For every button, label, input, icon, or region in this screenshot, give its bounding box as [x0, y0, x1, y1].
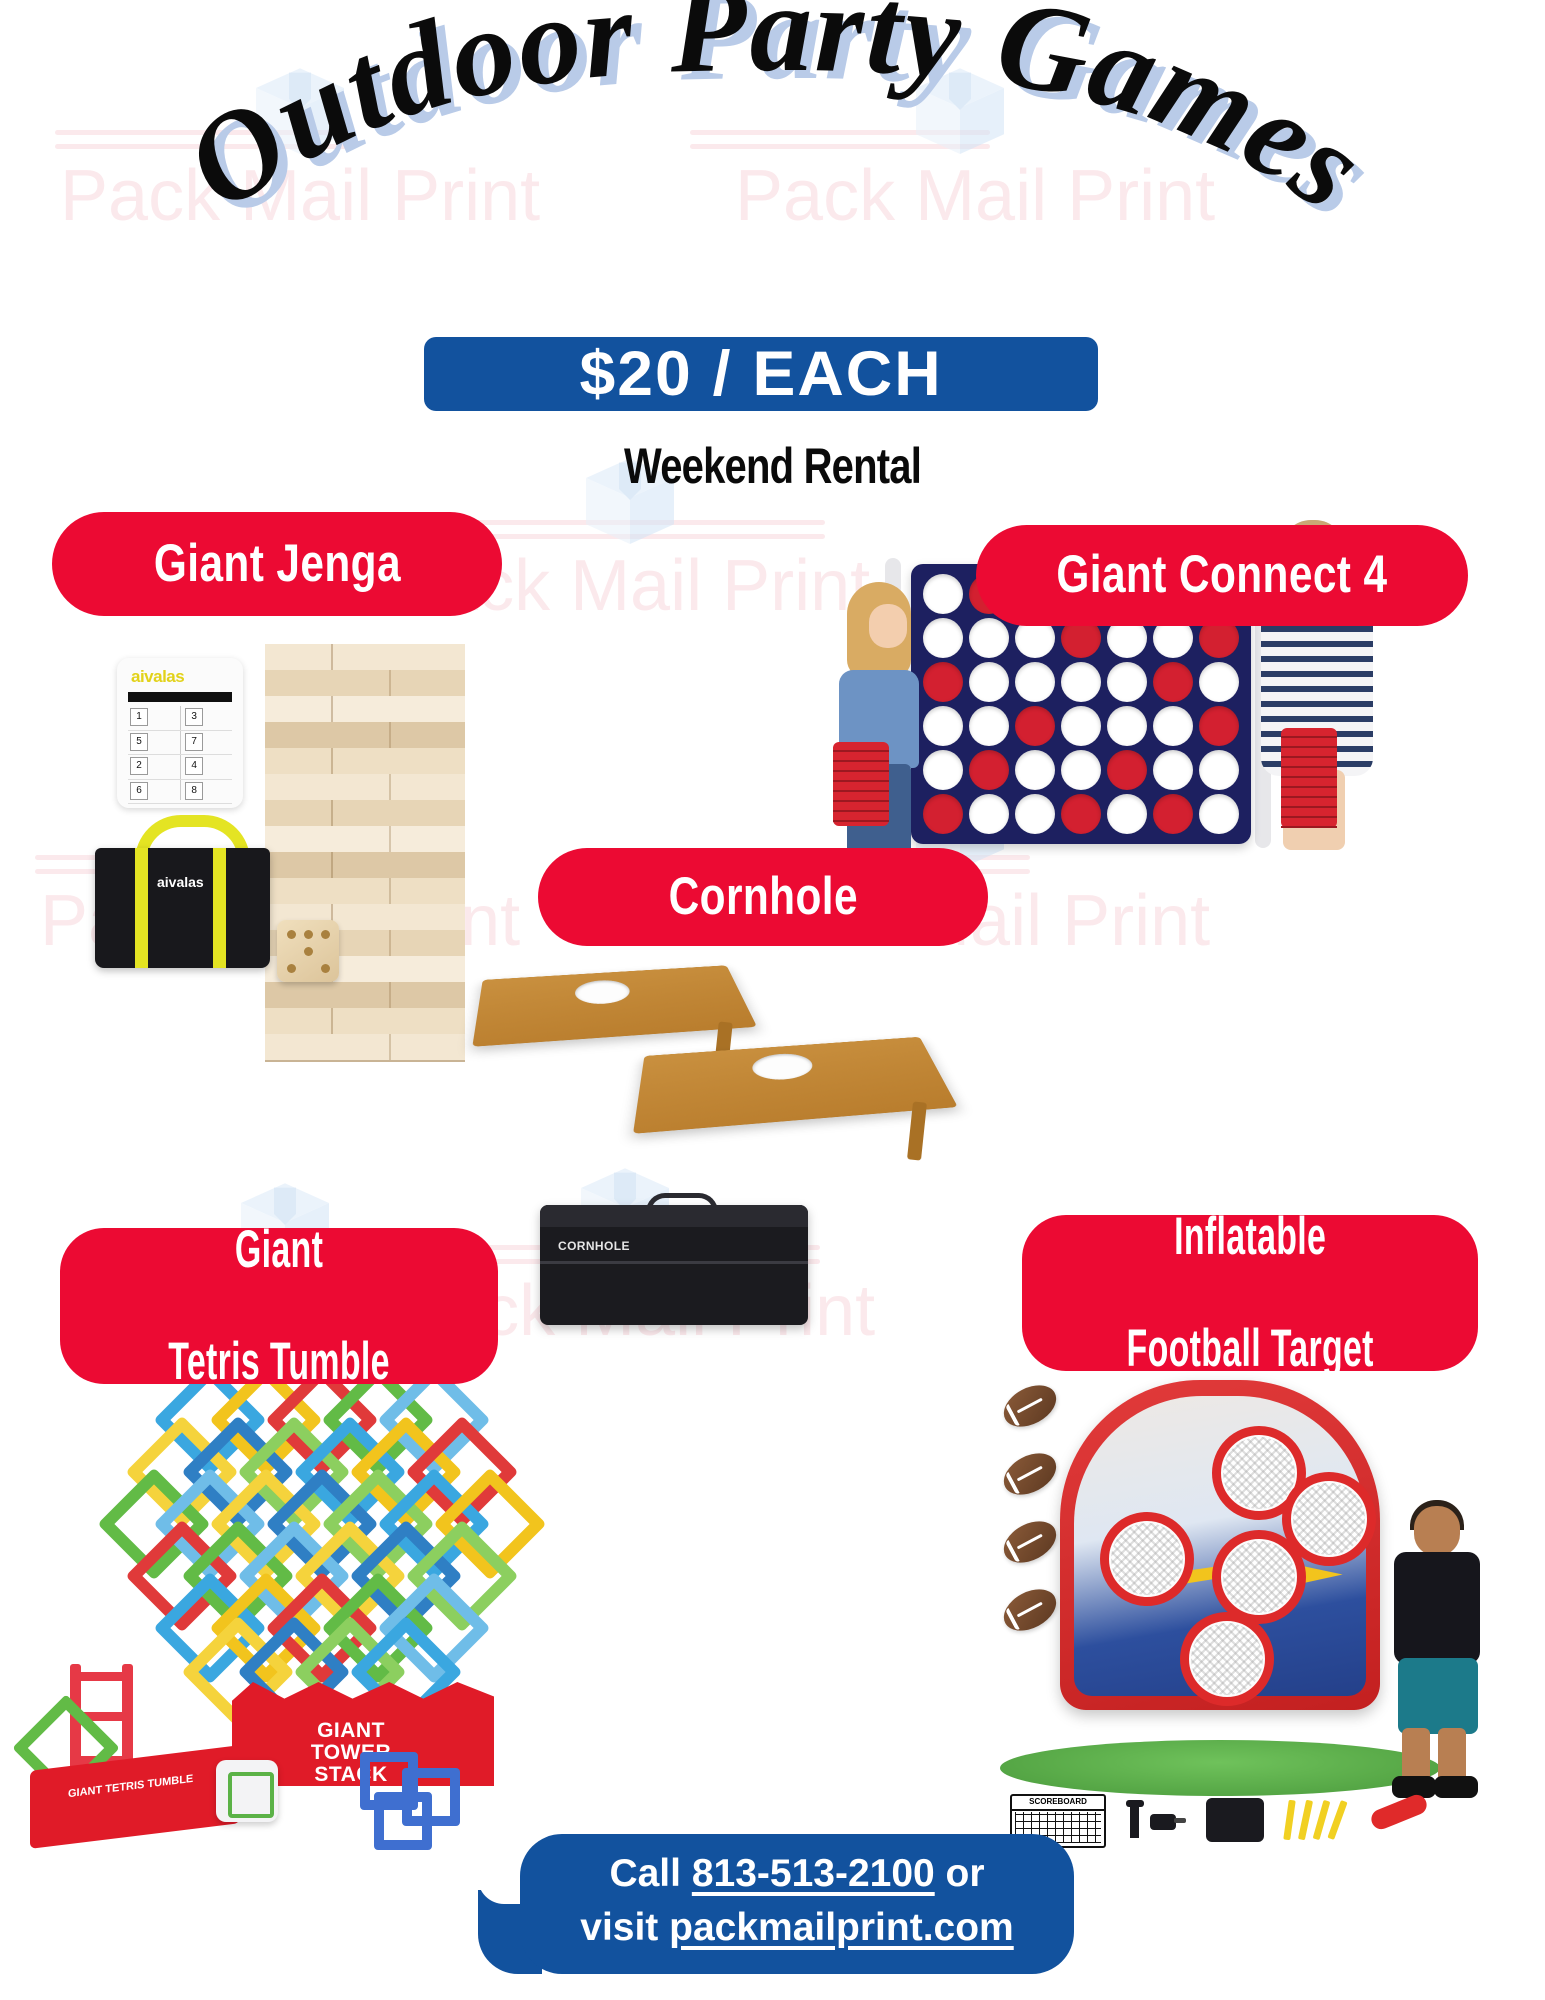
connect4-coin-stack-right [1281, 728, 1337, 828]
connect4-slot [969, 706, 1009, 746]
product-label-giant-jenga: Giant Jenga [52, 512, 502, 616]
die-pip [304, 947, 313, 956]
connect4-slot [1153, 662, 1193, 702]
scorecard-cell: 8 [185, 782, 203, 800]
target-ring [1100, 1512, 1194, 1606]
ladder-rung [70, 1672, 132, 1681]
jenga-block [265, 748, 465, 776]
player-shorts [1398, 1658, 1478, 1734]
bag-handle [646, 1193, 718, 1212]
tetris-blue-pieces [360, 1752, 456, 1834]
connect4-slot [923, 750, 963, 790]
connect4-coin-stack-left [833, 742, 889, 826]
scorecard-row: 57 [128, 731, 232, 756]
jenga-block [265, 644, 465, 672]
bag-zipper [540, 1261, 808, 1264]
jenga-block [265, 982, 465, 1010]
scorecard-row: 68 [128, 780, 232, 805]
football [997, 1581, 1063, 1639]
product-label-inflatable-football-target: Inflatable Football Target [1022, 1215, 1478, 1371]
connect4-slot [1107, 662, 1147, 702]
bag-strap-left [135, 848, 148, 968]
price-text: $20 / EACH [579, 343, 942, 406]
visit-prefix-label: visit [580, 1906, 669, 1949]
connect4-slot [1015, 706, 1055, 746]
die-pip [287, 930, 296, 939]
scorecard-row: 13 [128, 706, 232, 731]
connect4-slot [969, 750, 1009, 790]
connect4-slot [969, 794, 1009, 834]
jenga-block [265, 670, 465, 698]
connect4-slot [1199, 794, 1239, 834]
player-leg [1402, 1728, 1430, 1782]
inflatable-target-body [1060, 1380, 1380, 1710]
cornhole-board-left [472, 965, 757, 1046]
connect4-slot [1061, 706, 1101, 746]
connect4-slot [1015, 794, 1055, 834]
scorecard-cell: 7 [185, 733, 203, 751]
ground-stakes-accessory [1284, 1800, 1356, 1842]
pump-icon [1124, 1796, 1188, 1842]
rental-subtitle: Weekend Rental [155, 437, 1391, 495]
scorecard-grid: 13572468 [128, 706, 232, 800]
product-photo-giant-jenga: aivalas 13572468 aivalas [95, 630, 515, 1060]
scorecard-title-bar [128, 692, 232, 702]
connect4-slot [1107, 750, 1147, 790]
scorecard-cell: 6 [130, 782, 148, 800]
contact-banner[interactable]: Call 813-513-2100 or visit packmailprint… [520, 1834, 1074, 1974]
jenga-block [265, 878, 465, 906]
jenga-carry-bag [95, 848, 270, 968]
connect4-slot [1015, 750, 1055, 790]
product-label-giant-tetris-tumble: Giant Tetris Tumble [60, 1228, 498, 1384]
flyer-canvas: Pack Mail PrintPack Mail PrintPack Mail … [0, 0, 1545, 2000]
call-suffix-label: or [935, 1852, 985, 1895]
product-label-text: Giant Connect 4 [1056, 547, 1387, 603]
connect4-slot [1153, 794, 1193, 834]
football [997, 1513, 1063, 1571]
connect4-slot [923, 706, 963, 746]
cornhole-bag-brand: CORNHOLE [558, 1239, 630, 1253]
scorecard-cell: 2 [130, 757, 148, 775]
jenga-block [265, 1034, 465, 1062]
cornhole-hole-right [751, 1052, 815, 1082]
phone-number[interactable]: 813-513-2100 [692, 1852, 935, 1895]
connect4-slot [969, 618, 1009, 658]
product-label-text: Giant Jenga [153, 536, 400, 592]
die-pip [321, 964, 330, 973]
ground-stake [1327, 1800, 1347, 1840]
child-face [869, 604, 907, 648]
die-pip [287, 964, 296, 973]
ground-stake [1298, 1800, 1313, 1841]
football [997, 1377, 1063, 1435]
target-ring [1180, 1612, 1274, 1706]
connect4-slot [1061, 794, 1101, 834]
scorecard-cell: 5 [130, 733, 148, 751]
product-photo-inflatable-football-target: SCOREBOARD [1000, 1370, 1500, 1850]
connect4-slot [1107, 706, 1147, 746]
jenga-wooden-die [277, 920, 339, 982]
jenga-block [265, 774, 465, 802]
svg-text:Outdoor Party Games: Outdoor Party Games [162, 0, 1390, 238]
connect4-slot [1153, 706, 1193, 746]
player-head [1414, 1506, 1460, 1556]
contact-line-phone: Call 813-513-2100 or [520, 1852, 1074, 1896]
scorecard-cell: 3 [185, 708, 203, 726]
product-label-text: Inflatable Football Target [1095, 1209, 1404, 1378]
page-title-svg: Outdoor Party Games Outdoor Party Games [0, 40, 1545, 340]
jenga-block [265, 800, 465, 828]
jenga-block [265, 1008, 465, 1036]
connect4-slot [1199, 706, 1239, 746]
connect4-slot [923, 574, 963, 614]
cornhole-carry-bag: CORNHOLE [540, 1205, 808, 1325]
jenga-bag-brand: aivalas [157, 874, 204, 890]
contact-line-website: visit packmailprint.com [520, 1906, 1074, 1950]
player-leg [1438, 1728, 1466, 1782]
scorecard-row: 24 [128, 755, 232, 780]
tetris-blue-square [374, 1792, 432, 1850]
die-pip [321, 930, 330, 939]
die-pip [304, 930, 313, 939]
price-banner: $20 / EACH [424, 337, 1098, 411]
football [997, 1445, 1063, 1503]
connect4-slot [1061, 750, 1101, 790]
page-title-text: Outdoor Party Games [162, 0, 1390, 238]
connect4-slot [1107, 794, 1147, 834]
scorecard-brand: aivalas [131, 667, 184, 687]
connect4-slot [923, 794, 963, 834]
hand-pump-accessory [1124, 1796, 1188, 1842]
cornhole-hole-left [574, 979, 632, 1006]
bag-strap-right [213, 848, 226, 968]
connect4-slot [969, 662, 1009, 702]
product-label-line-1: Inflatable [1126, 1209, 1373, 1265]
jenga-block [265, 722, 465, 750]
scorecard-cell: 4 [185, 757, 203, 775]
ground-stake [1283, 1800, 1295, 1841]
jenga-block [265, 696, 465, 724]
product-label-text: Giant Tetris Tumble [141, 1222, 418, 1391]
product-label-line-1: Giant [168, 1222, 390, 1278]
page-title: Outdoor Party Games Outdoor Party Games [0, 40, 1545, 340]
call-prefix-label: Call [609, 1852, 691, 1895]
football-player-figure [1368, 1506, 1496, 1806]
connect4-slot [1199, 662, 1239, 702]
connect4-slot [923, 618, 963, 658]
product-label-text: Cornhole [668, 869, 857, 925]
cornhole-board-right [633, 1037, 958, 1134]
product-photo-giant-tetris-tumble: GIANT TOWER STACK GIANT TETRIS TUMBLE [20, 1380, 560, 1860]
product-label-giant-connect-4: Giant Connect 4 [976, 525, 1468, 626]
air-blower-accessory [1206, 1798, 1264, 1842]
scoreboard-label: SCOREBOARD [1012, 1796, 1104, 1811]
jenga-tower-image [265, 644, 465, 1056]
target-ring [1282, 1472, 1376, 1566]
connect4-slot [1199, 750, 1239, 790]
red-marker-accessory [1368, 1792, 1429, 1832]
product-label-line-2: Football Target [1126, 1321, 1373, 1377]
player-shoe [1434, 1776, 1478, 1798]
player-shirt [1394, 1552, 1480, 1664]
product-label-cornhole: Cornhole [538, 848, 988, 946]
connect4-slot [923, 662, 963, 702]
tetris-mat-logo: GIANT TETRIS TUMBLE [68, 1773, 193, 1800]
connect4-slot [1061, 662, 1101, 702]
connect4-slot [1153, 750, 1193, 790]
website-url[interactable]: packmailprint.com [669, 1906, 1014, 1949]
connect4-slot [1015, 662, 1055, 702]
scorecard-cell: 1 [130, 708, 148, 726]
die-symbol [228, 1772, 274, 1818]
jenga-block [265, 826, 465, 854]
jenga-scorecard: aivalas 13572468 [117, 658, 243, 808]
product-label-line-2: Tetris Tumble [168, 1334, 390, 1390]
jenga-block [265, 852, 465, 880]
tetris-game-die [216, 1760, 278, 1822]
